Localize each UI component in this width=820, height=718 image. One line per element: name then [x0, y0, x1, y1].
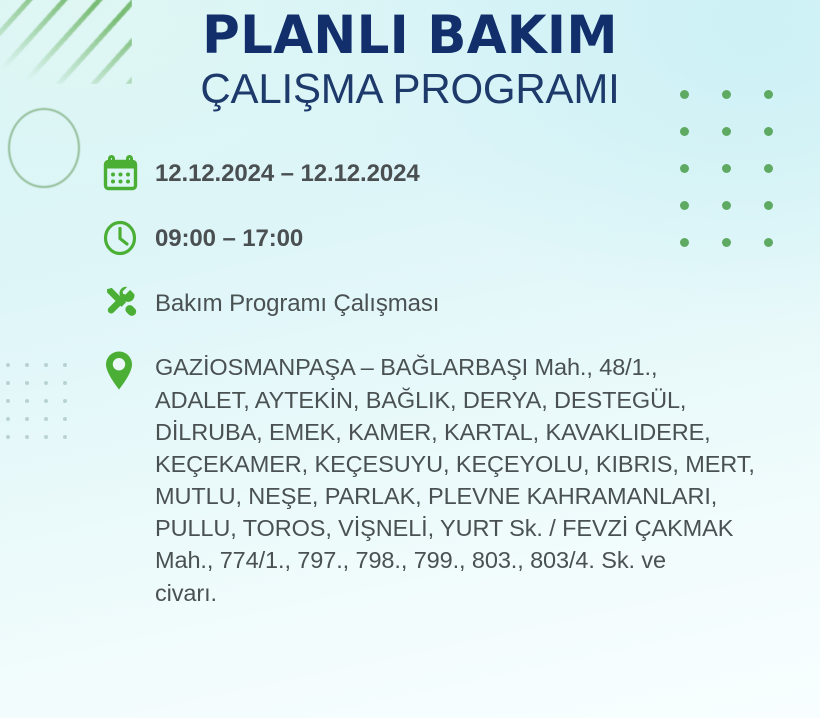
dot [680, 127, 689, 136]
dot [722, 127, 731, 136]
info-row-date: 12.12.2024 – 12.12.2024 [103, 154, 820, 198]
maintenance-date-range: 12.12.2024 – 12.12.2024 [155, 154, 820, 190]
info-row-work-type: Bakım Programı Çalışması [103, 284, 820, 328]
map-pin-icon [103, 349, 155, 393]
clock-icon [103, 219, 155, 263]
info-row-time: 09:00 – 17:00 [103, 219, 820, 263]
dot [764, 127, 773, 136]
calendar-icon [103, 154, 155, 198]
maintenance-location-list: GAZİOSMANPAŞA – BAĞLARBAŞI Mah., 48/1., … [155, 349, 795, 609]
maintenance-time-range: 09:00 – 17:00 [155, 219, 820, 255]
tools-icon [103, 284, 155, 328]
poster-header: PLANLI BAKIM ÇALIŞMA PROGRAMI [0, 0, 820, 112]
page-title: PLANLI BAKIM [12, 8, 807, 64]
info-row-location: GAZİOSMANPAŞA – BAĞLARBAŞI Mah., 48/1., … [103, 349, 820, 609]
maintenance-work-type: Bakım Programı Çalışması [155, 284, 820, 320]
info-list: 12.12.2024 – 12.12.2024 09:00 – 17:00 [0, 154, 820, 609]
page-subtitle: ÇALIŞMA PROGRAMI [0, 66, 820, 112]
planned-maintenance-poster: PLANLI BAKIM ÇALIŞMA PROGRAMI 12.12.2024… [0, 0, 820, 718]
